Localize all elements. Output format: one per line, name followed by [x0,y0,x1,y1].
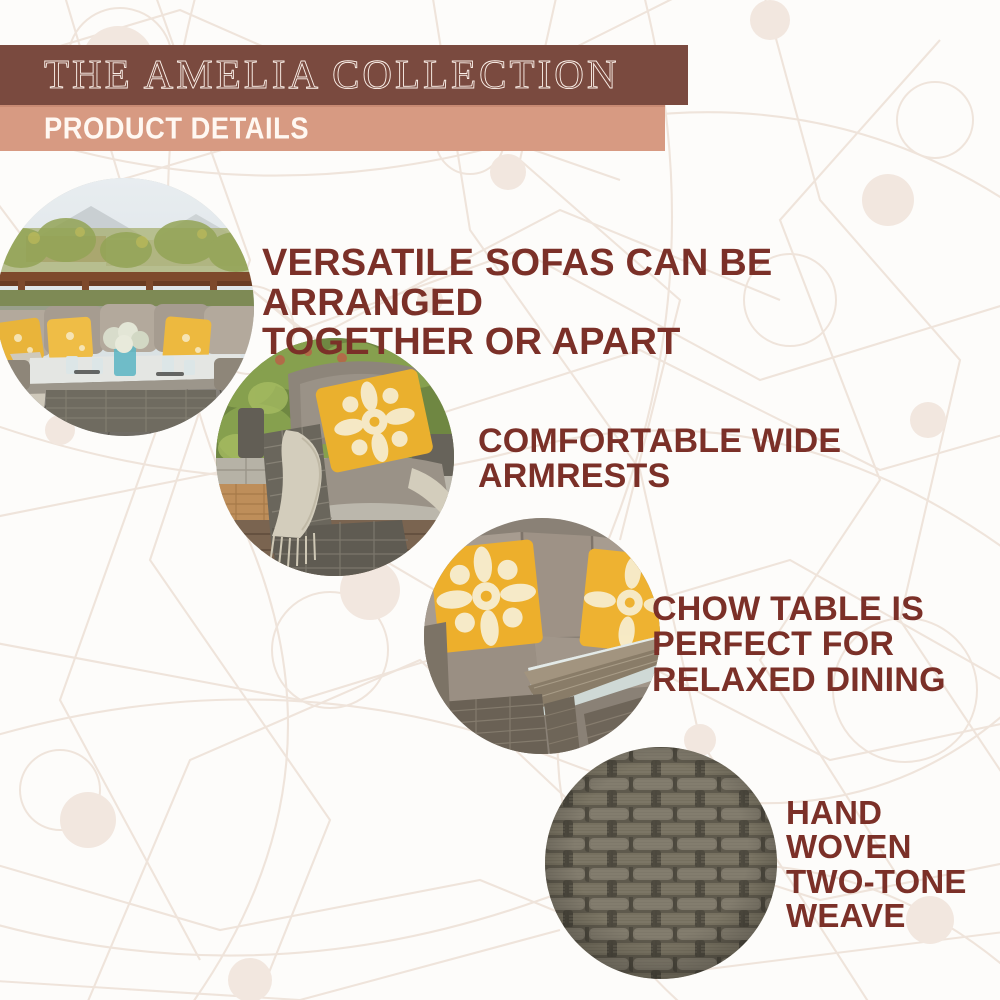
feature-image-4 [545,747,777,979]
feature-image-2 [216,338,454,576]
product-details-bar: PRODUCT DETAILS [0,105,665,151]
feature-caption-3: CHOW TABLE IS PERFECT FOR RELAXED DINING [652,592,992,698]
feature-caption-1: VERSATILE SOFAS CAN BE ARRANGED TOGETHER… [262,244,962,363]
feature-caption-2: COMFORTABLE WIDE ARMRESTS [478,424,898,495]
infographic-canvas: THE AMELIA COLLECTION PRODUCT DETAILS [0,0,1000,1000]
collection-title-bar: THE AMELIA COLLECTION [0,45,688,105]
collection-title: THE AMELIA COLLECTION [44,50,619,98]
feature-image-3 [424,518,660,754]
product-details-label: PRODUCT DETAILS [44,110,309,146]
feature-caption-4: HAND WOVEN TWO-TONE WEAVE [786,796,1000,933]
feature-image-1 [0,178,254,436]
